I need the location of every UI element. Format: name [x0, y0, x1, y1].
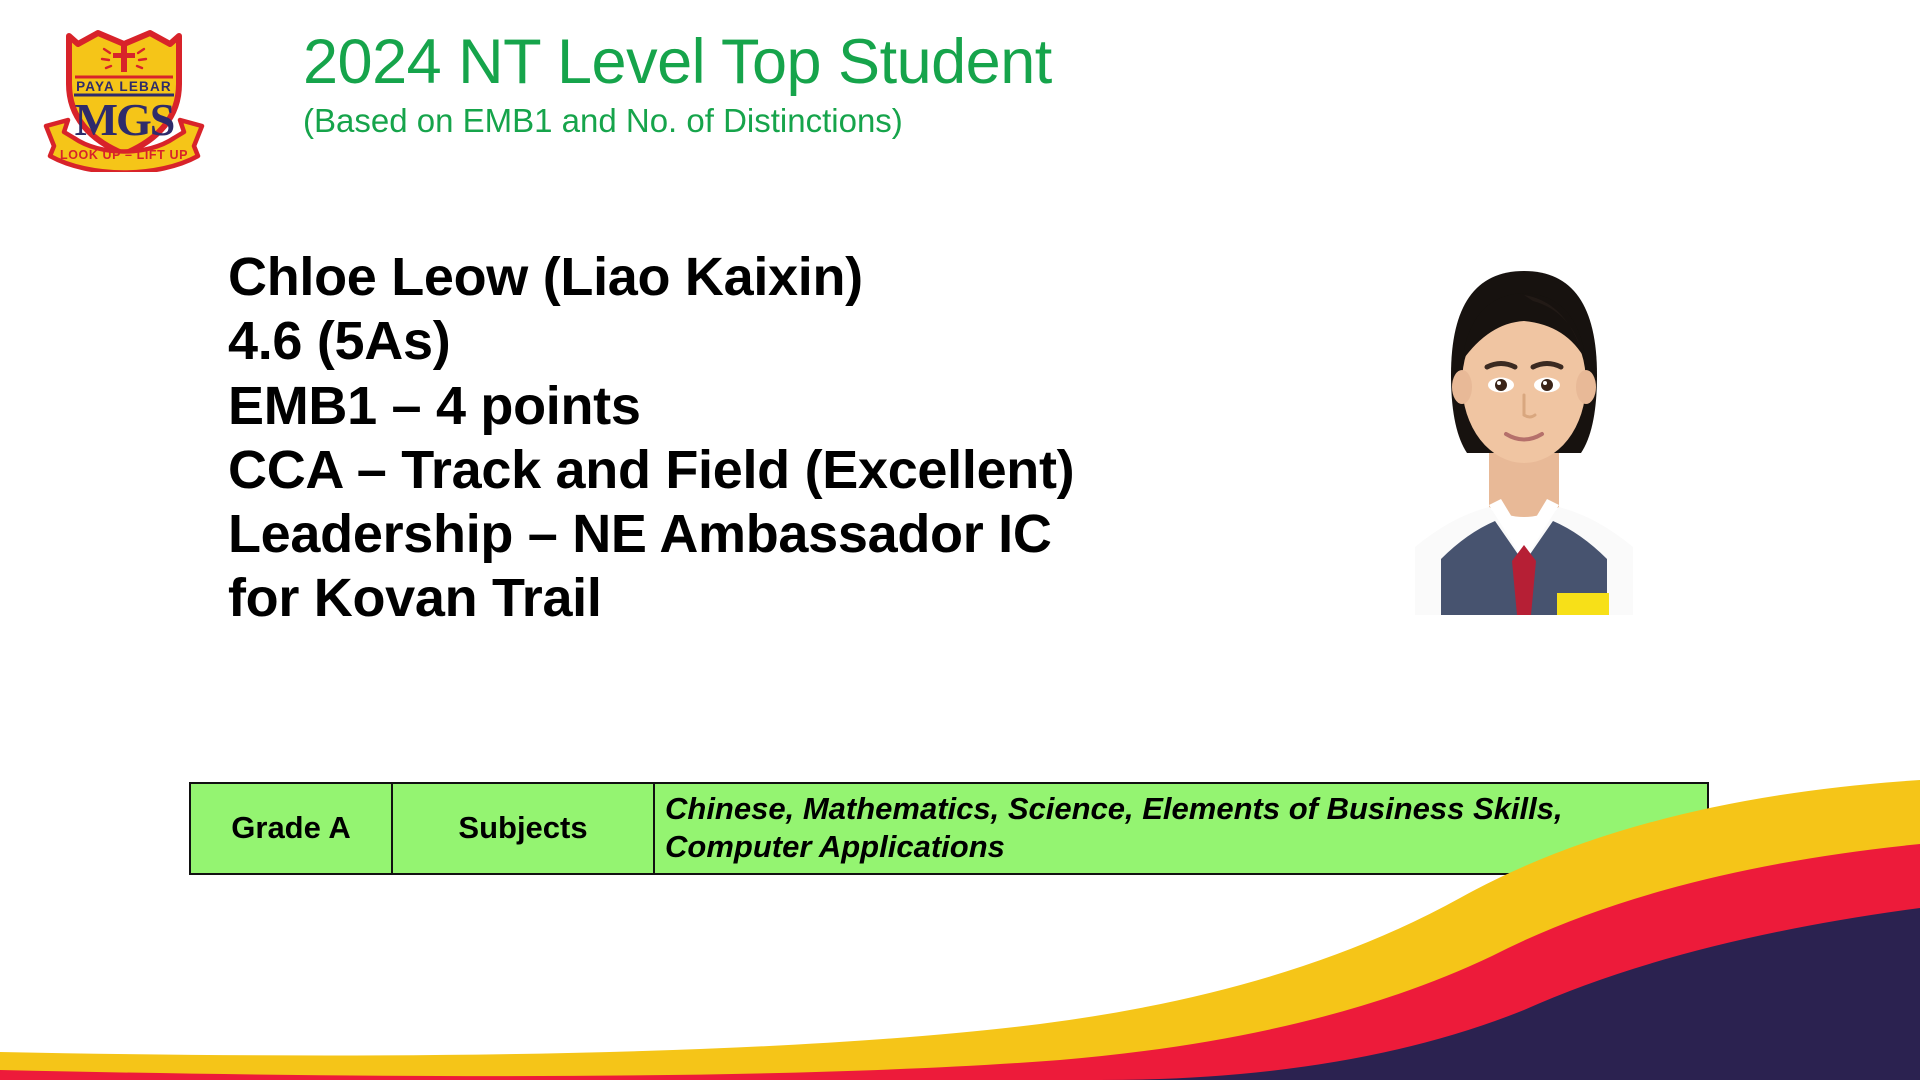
swoosh-red-band [0, 844, 1920, 1080]
swoosh-navy-band [0, 908, 1920, 1080]
school-crest-logo: PAYA LEBAR MGS LOOK UP – LIFT UP [38, 22, 210, 172]
crest-icon: PAYA LEBAR MGS LOOK UP – LIFT UP [38, 22, 210, 172]
student-portrait-illustration [1355, 215, 1693, 615]
student-cca: CCA – Track and Field (Excellent) [228, 438, 1338, 502]
student-photo [1355, 215, 1693, 615]
table-row: Grade A Subjects Chinese, Mathematics, S… [190, 783, 1708, 874]
category-cell: Subjects [392, 783, 654, 874]
page-title: 2024 NT Level Top Student [303, 30, 1303, 95]
crest-motto-text: LOOK UP – LIFT UP [60, 148, 188, 162]
page-subtitle: (Based on EMB1 and No. of Distinctions) [303, 101, 1303, 141]
student-emb1: EMB1 – 4 points [228, 374, 1338, 438]
student-score: 4.6 (5As) [228, 309, 1338, 373]
student-name: Chloe Leow (Liao Kaixin) [228, 245, 1338, 309]
grade-cell: Grade A [190, 783, 392, 874]
slide-canvas: PAYA LEBAR MGS LOOK UP – LIFT UP 2024 NT… [0, 0, 1920, 1080]
student-leadership-line-2: for Kovan Trail [228, 566, 1338, 630]
student-leadership-line-1: Leadership – NE Ambassador IC [228, 502, 1338, 566]
heading-block: 2024 NT Level Top Student (Based on EMB1… [303, 30, 1303, 140]
subjects-table: Grade A Subjects Chinese, Mathematics, S… [189, 782, 1709, 875]
crest-school-text: PAYA LEBAR [76, 79, 172, 94]
crest-initials-text: MGS [75, 94, 174, 145]
subjects-cell: Chinese, Mathematics, Science, Elements … [654, 783, 1708, 874]
student-details-block: Chloe Leow (Liao Kaixin) 4.6 (5As) EMB1 … [228, 245, 1338, 631]
